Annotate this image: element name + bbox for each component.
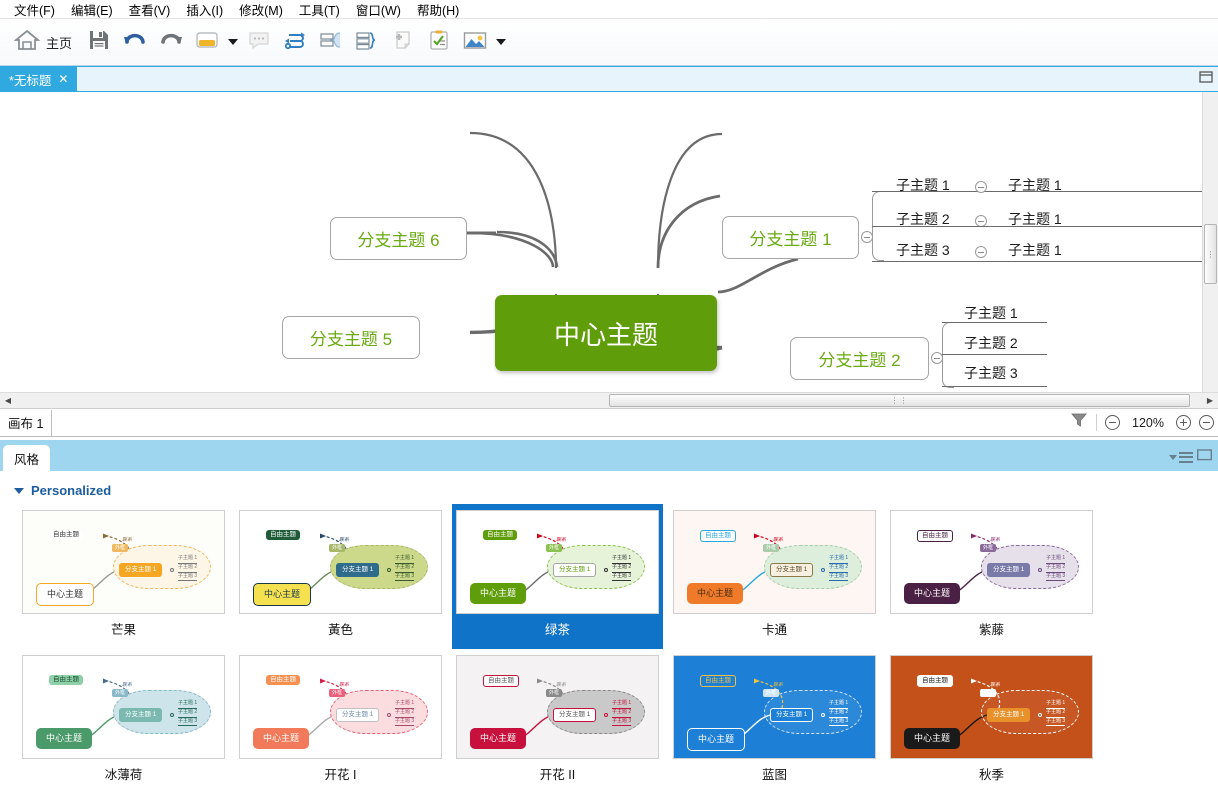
style-group-label: Personalized	[31, 483, 111, 498]
filter-icon[interactable]	[1070, 411, 1088, 434]
note-icon	[391, 29, 415, 56]
menu-view[interactable]: 查看(V)	[121, 0, 179, 20]
style-preview-free-topic: 自由主题	[266, 530, 300, 540]
zoom-in-icon[interactable]	[1176, 415, 1191, 430]
style-preview-relation-label: 联系	[339, 681, 349, 688]
style-thumbnail-grid: 自由主题 联系 外框 中心主题 分支主题 1 子主题 1 子主题 2 子主题 3…	[0, 504, 1218, 794]
style-preview-collapse-dot	[604, 568, 608, 572]
style-thumbnail-label: 冰薄荷	[105, 759, 143, 789]
mindmap-canvas-area: 中心主题 分支主题 6 分支主题 5 分支主题 4 分支主题 1 分支主题 2	[0, 92, 1218, 392]
home-button-label: 主页	[46, 33, 72, 52]
style-preview-branch-topic: 分支主题 1	[336, 563, 379, 577]
style-thumbnail-1[interactable]: 自由主题 联系 外框 中心主题 分支主题 1 子主题 1 子主题 2 子主题 3…	[18, 504, 229, 649]
style-preview-branch-topic: 分支主题 1	[119, 708, 162, 722]
style-preview-relation-label: 联系	[556, 536, 566, 543]
insert-task-button[interactable]	[422, 23, 456, 61]
save-button[interactable]	[82, 23, 116, 61]
insert-summary-button[interactable]	[350, 23, 384, 61]
style-thumbnail-7[interactable]: 自由主题 联系 外框 中心主题 分支主题 1 子主题 1 子主题 2 子主题 3…	[235, 649, 446, 794]
branch-1-sub-3-underline	[872, 261, 1202, 262]
style-preview-branch-topic: 分支主题 1	[770, 708, 813, 722]
home-icon	[14, 28, 40, 57]
tab-style[interactable]: 风格	[3, 445, 50, 471]
branch-1-sub-3-collapse-toggle[interactable]	[975, 246, 987, 258]
style-preview-outline-label: 外框	[546, 544, 562, 552]
style-preview-branch-topic: 分支主题 1	[770, 563, 813, 577]
zoom-level-label: 120%	[1128, 416, 1168, 430]
close-icon[interactable]: ✕	[58, 73, 68, 85]
style-panel-header: 风格	[0, 440, 1218, 471]
style-preview-collapse-dot	[1038, 568, 1042, 572]
redo-button[interactable]	[154, 23, 188, 61]
style-preview-outline-label: 外框	[112, 689, 128, 697]
style-preview-central-topic: 中心主题	[904, 583, 960, 604]
branch-1-sub-2-underline	[872, 226, 1202, 227]
style-preview-image: 自由主题 联系 外框 中心主题 分支主题 1 子主题 1 子主题 2 子主题 3	[673, 655, 876, 759]
style-preview-relation-label: 联系	[990, 681, 1000, 688]
menu-modify[interactable]: 修改(M)	[231, 0, 291, 20]
style-preview-central-topic: 中心主题	[36, 728, 92, 749]
style-preview-collapse-dot	[821, 568, 825, 572]
tab-style-label: 风格	[14, 449, 39, 468]
scroll-right-arrow-icon[interactable]: ▶	[1202, 393, 1218, 409]
style-preview-free-topic: 自由主题	[917, 530, 953, 542]
tab-list-icon[interactable]	[1198, 69, 1214, 85]
sheet-tab-label: 画布 1	[8, 413, 43, 432]
style-thumbnail-3[interactable]: 自由主题 联系 外框 中心主题 分支主题 1 子主题 1 子主题 2 子主题 3…	[452, 504, 663, 649]
zoom-out-icon[interactable]	[1105, 415, 1120, 430]
style-preview-image: 自由主题 联系 外框 中心主题 分支主题 1 子主题 1 子主题 2 子主题 3	[239, 510, 442, 614]
style-preview-free-topic: 自由主题	[266, 675, 300, 685]
style-preview-central-topic: 中心主题	[253, 728, 309, 749]
branch-2-sub-1-label: 子主题 1	[964, 303, 1018, 323]
style-thumbnail-label: 开花 I	[325, 759, 357, 789]
style-preview-sub-topics: 子主题 1 子主题 2 子主题 3	[829, 555, 848, 581]
style-preview-branch-topic: 分支主题 1	[336, 708, 379, 722]
style-group-header[interactable]: Personalized	[0, 471, 1218, 504]
insert-relationship-button[interactable]	[278, 23, 312, 61]
style-preview-collapse-dot	[821, 713, 825, 717]
style-preview-collapse-dot	[604, 713, 608, 717]
style-preview-free-topic: 自由主题	[483, 530, 517, 540]
document-tab-label: *无标题	[9, 70, 51, 89]
image-dropdown-button[interactable]	[494, 23, 508, 61]
style-thumbnail-5[interactable]: 自由主题 联系 外框 中心主题 分支主题 1 子主题 1 子主题 2 子主题 3…	[886, 504, 1097, 649]
branch-2-sub-topic-2[interactable]: 子主题 2	[964, 333, 1018, 353]
style-preview-collapse-dot	[170, 713, 174, 717]
style-preview-free-topic: 自由主题	[700, 530, 736, 542]
undo-button[interactable]	[118, 23, 152, 61]
style-preview-sub-topics: 子主题 1 子主题 2 子主题 3	[178, 700, 197, 726]
sheet-bar-filler	[52, 410, 1070, 437]
branch-2-sub-3-label: 子主题 3	[964, 363, 1018, 383]
canvas-horizontal-scrollbar[interactable]: ◀ ⋮⋮ ▶	[0, 392, 1218, 408]
sheet-tab-canvas-1[interactable]: 画布 1	[0, 410, 52, 437]
home-button[interactable]: 主页	[6, 23, 80, 61]
style-preview-outline-label: 外框	[329, 544, 345, 552]
style-preview-branch-topic: 分支主题 1	[119, 563, 162, 577]
branch-topic-2-label: 分支主题 2	[818, 346, 900, 371]
style-thumbnail-label: 秋季	[979, 759, 1004, 789]
branch-2-sub-3-underline	[942, 386, 1047, 387]
style-thumbnail-10[interactable]: 自由主题 联系 外框 中心主题 分支主题 1 子主题 1 子主题 2 子主题 3…	[886, 649, 1097, 794]
style-thumbnail-label: 开花 II	[540, 759, 575, 789]
style-preview-sub-topics: 子主题 1 子主题 2 子主题 3	[1046, 700, 1065, 726]
style-preview-central-topic: 中心主题	[687, 728, 745, 751]
branch-2-sub-topic-3[interactable]: 子主题 3	[964, 363, 1018, 383]
style-preview-sub-topics: 子主题 1 子主题 2 子主题 3	[612, 555, 631, 581]
style-preview-central-topic: 中心主题	[36, 583, 94, 606]
branch-1-sub-topic-3[interactable]: 子主题 3	[896, 240, 950, 260]
branch-1-sub-1-child-label: 子主题 1	[1008, 175, 1062, 195]
style-thumbnail-label: 黃色	[328, 614, 353, 644]
task-icon	[427, 29, 451, 56]
branch-2-sub-2-underline	[942, 354, 1047, 355]
branch-2-subtree-brace	[942, 322, 954, 388]
branch-1-sub-1-child-1[interactable]: 子主题 1	[1008, 175, 1062, 195]
chevron-down-icon[interactable]	[14, 488, 24, 494]
panel-float-icon[interactable]	[1197, 448, 1212, 466]
style-thumbnail-label: 绿茶	[545, 614, 570, 644]
toolbar: 主页	[0, 19, 1218, 66]
style-thumbnail-label: 蓝图	[762, 759, 787, 789]
dropdown-caret-icon	[228, 39, 238, 45]
branch-1-sub-3-child-1[interactable]: 子主题 1	[1008, 240, 1062, 260]
menu-tools[interactable]: 工具(T)	[291, 0, 348, 20]
style-preview-relation-label: 联系	[339, 536, 349, 543]
document-tab-untitled[interactable]: *无标题 ✕	[0, 66, 77, 92]
branch-1-sub-topic-1[interactable]: 子主题 1	[896, 175, 950, 195]
style-preview-central-topic: 中心主题	[470, 728, 526, 749]
branch-topic-5-label: 分支主题 5	[310, 325, 392, 350]
canvas-vertical-scrollbar[interactable]: ⋮	[1202, 92, 1218, 392]
style-preview-image: 自由主题 联系 外框 中心主题 分支主题 1 子主题 1 子主题 2 子主题 3	[22, 510, 225, 614]
style-preview-collapse-dot	[387, 713, 391, 717]
insert-boundary-button[interactable]	[314, 23, 348, 61]
document-tab-strip: *无标题 ✕	[0, 66, 1218, 92]
style-preview-relation-label: 联系	[122, 681, 132, 688]
style-preview-outline-label: 外框	[112, 544, 128, 552]
relationship-icon	[283, 29, 307, 56]
redo-icon	[158, 29, 184, 56]
branch-topic-6-label: 分支主题 6	[357, 226, 439, 251]
insert-image-button[interactable]	[458, 23, 492, 61]
style-preview-relation-label: 联系	[773, 681, 783, 688]
style-thumbnail-label: 卡通	[762, 614, 787, 644]
sheet-bar: 画布 1 120%	[0, 408, 1218, 437]
tab-strip-filler	[77, 67, 1218, 92]
style-preview-branch-topic: 分支主题 1	[987, 563, 1030, 577]
style-thumbnail-label: 紫藤	[979, 614, 1004, 644]
style-preview-branch-topic: 分支主题 1	[553, 563, 596, 577]
style-preview-relation-label: 联系	[773, 536, 783, 543]
style-preview-image: 自由主题 联系 外框 中心主题 分支主题 1 子主题 1 子主题 2 子主题 3	[239, 655, 442, 759]
style-preview-sub-topics: 子主题 1 子主题 2 子主题 3	[178, 555, 197, 581]
style-preview-branch-topic: 分支主题 1	[553, 708, 596, 722]
style-thumbnail-4[interactable]: 自由主题 联系 外框 中心主题 分支主题 1 子主题 1 子主题 2 子主题 3…	[669, 504, 880, 649]
style-preview-free-topic: 自由主题	[700, 675, 736, 687]
style-preview-sub-topics: 子主题 1 子主题 2 子主题 3	[395, 700, 414, 726]
central-topic-label: 中心主题	[554, 315, 658, 352]
topic-icon	[194, 29, 220, 56]
branch-topic-1[interactable]: 分支主题 1	[722, 216, 859, 259]
zoom-controls: 120%	[1070, 410, 1218, 437]
panel-menu-icon[interactable]	[1169, 452, 1193, 463]
style-thumbnail-2[interactable]: 自由主题 联系 外框 中心主题 分支主题 1 子主题 1 子主题 2 子主题 3…	[235, 504, 446, 649]
scroll-left-arrow-icon[interactable]: ◀	[0, 393, 16, 409]
menu-help[interactable]: 帮助(H)	[409, 0, 467, 20]
style-preview-sub-topics: 子主题 1 子主题 2 子主题 3	[395, 555, 414, 581]
canvas-vscroll-thumb[interactable]: ⋮	[1204, 224, 1217, 284]
style-panel: 风格 Personalized	[0, 440, 1218, 808]
hscroll-track[interactable]: ⋮⋮	[16, 393, 1202, 409]
style-panel-header-icons	[1169, 448, 1212, 466]
style-thumbnail-6[interactable]: 自由主题 联系 外框 中心主题 分支主题 1 子主题 1 子主题 2 子主题 3…	[18, 649, 229, 794]
image-icon	[462, 29, 488, 56]
style-thumbnail-8[interactable]: 自由主题 联系 外框 中心主题 分支主题 1 子主题 1 子主题 2 子主题 3…	[452, 649, 663, 794]
boundary-icon	[318, 29, 344, 56]
style-preview-outline-label: 外框	[546, 689, 562, 697]
branch-topic-1-label: 分支主题 1	[749, 225, 831, 250]
style-preview-central-topic: 中心主题	[904, 728, 960, 749]
style-preview-sub-topics: 子主题 1 子主题 2 子主题 3	[829, 700, 848, 726]
hscroll-thumb[interactable]: ⋮⋮	[609, 394, 1190, 407]
menu-insert[interactable]: 插入(I)	[178, 0, 231, 20]
style-preview-relation-label: 联系	[122, 536, 132, 543]
branch-1-sub-3-child-label: 子主题 1	[1008, 240, 1062, 260]
branch-1-sub-1-label: 子主题 1	[896, 175, 950, 195]
style-preview-relation-label: 联系	[556, 681, 566, 688]
style-panel-body[interactable]: Personalized 自由主题 联系 外框 中心主题 分支主题 1 子主题 …	[0, 471, 1218, 808]
image-dropdown-caret-icon	[496, 39, 506, 45]
style-preview-outline-label: 外框	[329, 689, 345, 697]
style-preview-free-topic: 自由主题	[49, 675, 83, 685]
branch-1-sub-1-collapse-toggle[interactable]	[975, 181, 987, 193]
style-preview-outline-label: 外框	[763, 544, 779, 552]
toolbar-separator	[1096, 414, 1097, 431]
style-preview-free-topic: 自由主题	[49, 530, 83, 540]
style-preview-image: 自由主题 联系 外框 中心主题 分支主题 1 子主题 1 子主题 2 子主题 3	[890, 655, 1093, 759]
callout-icon	[247, 29, 271, 56]
menu-bar: 文件(F) 编辑(E) 查看(V) 插入(I) 修改(M) 工具(T) 窗口(W…	[0, 0, 1218, 19]
style-preview-image: 自由主题 联系 外框 中心主题 分支主题 1 子主题 1 子主题 2 子主题 3	[456, 510, 659, 614]
menu-window[interactable]: 窗口(W)	[348, 0, 409, 20]
style-preview-collapse-dot	[1038, 713, 1042, 717]
style-preview-image: 自由主题 联系 外框 中心主题 分支主题 1 子主题 1 子主题 2 子主题 3	[890, 510, 1093, 614]
summary-icon	[354, 29, 380, 56]
menu-edit[interactable]: 编辑(E)	[63, 0, 121, 20]
branch-1-sub-3-label: 子主题 3	[896, 240, 950, 260]
style-preview-free-topic: 自由主题	[483, 675, 519, 687]
topic-dropdown-button[interactable]	[226, 23, 240, 61]
mindmap-canvas[interactable]: 中心主题 分支主题 6 分支主题 5 分支主题 4 分支主题 1 分支主题 2	[0, 92, 1218, 392]
save-icon	[88, 29, 110, 56]
style-preview-branch-topic: 分支主题 1	[987, 708, 1030, 722]
style-preview-image: 自由主题 联系 外框 中心主题 分支主题 1 子主题 1 子主题 2 子主题 3	[456, 655, 659, 759]
menu-file[interactable]: 文件(F)	[6, 0, 63, 20]
branch-topic-2[interactable]: 分支主题 2	[790, 337, 929, 380]
undo-icon	[122, 29, 148, 56]
branch-2-sub-topic-1[interactable]: 子主题 1	[964, 303, 1018, 323]
branch-2-sub-2-label: 子主题 2	[964, 333, 1018, 353]
style-preview-central-topic: 中心主题	[687, 583, 743, 604]
insert-callout-button[interactable]	[242, 23, 276, 61]
style-preview-relation-label: 联系	[990, 536, 1000, 543]
style-thumbnail-9[interactable]: 自由主题 联系 外框 中心主题 分支主题 1 子主题 1 子主题 2 子主题 3…	[669, 649, 880, 794]
style-preview-central-topic: 中心主题	[253, 583, 311, 606]
style-preview-collapse-dot	[387, 568, 391, 572]
style-preview-outline-label: 外框	[980, 544, 996, 552]
style-preview-sub-topics: 子主题 1 子主题 2 子主题 3	[1046, 555, 1065, 581]
branch-2-sub-1-underline	[942, 322, 1047, 323]
style-preview-collapse-dot	[170, 568, 174, 572]
style-preview-outline-label: 外框	[763, 689, 779, 697]
central-topic-node[interactable]: 中心主题	[495, 295, 717, 371]
application-window: 文件(F) 编辑(E) 查看(V) 插入(I) 修改(M) 工具(T) 窗口(W…	[0, 0, 1218, 808]
style-preview-image: 自由主题 联系 外框 中心主题 分支主题 1 子主题 1 子主题 2 子主题 3	[673, 510, 876, 614]
style-preview-image: 自由主题 联系 外框 中心主题 分支主题 1 子主题 1 子主题 2 子主题 3	[22, 655, 225, 759]
style-thumbnail-label: 芒果	[111, 614, 136, 644]
branch-topic-5[interactable]: 分支主题 5	[282, 316, 420, 359]
branch-topic-6[interactable]: 分支主题 6	[330, 217, 467, 260]
zoom-fit-icon[interactable]	[1199, 415, 1214, 430]
insert-note-button[interactable]	[386, 23, 420, 61]
style-preview-free-topic: 自由主题	[917, 675, 953, 687]
style-preview-outline-label: 外框	[980, 689, 996, 697]
style-preview-sub-topics: 子主题 1 子主题 2 子主题 3	[612, 700, 631, 726]
insert-topic-button[interactable]	[190, 23, 224, 61]
style-preview-central-topic: 中心主题	[470, 583, 526, 604]
